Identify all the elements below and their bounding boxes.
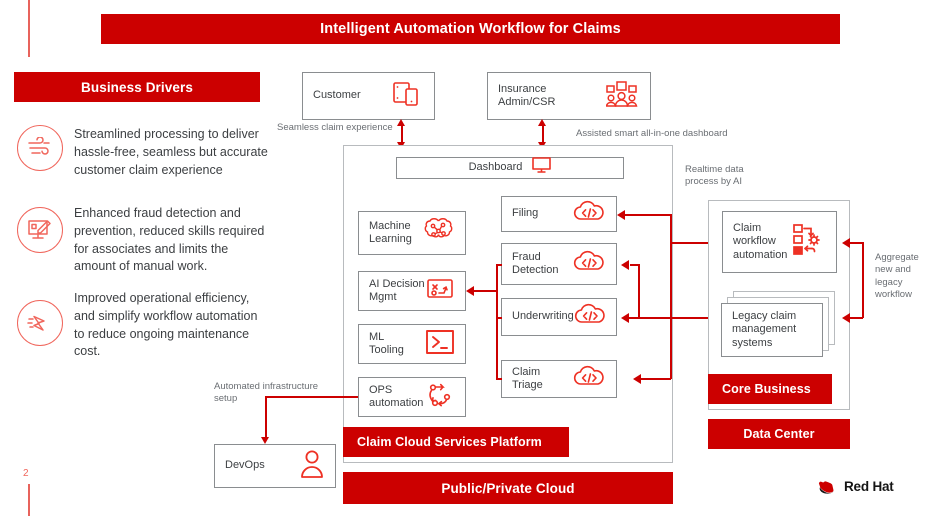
connector-triage-to-trunk xyxy=(496,378,502,380)
actor-box-insurance-admin[interactable]: Insurance Admin/CSR xyxy=(487,72,651,120)
actor-box-customer[interactable]: Customer xyxy=(302,72,435,120)
cloud-code-icon xyxy=(573,200,606,227)
connector-underwriting-to-trunk xyxy=(496,317,502,319)
core-box-claim-workflow-automation[interactable]: Claim workflow automation xyxy=(722,211,837,273)
connector-customer-platform xyxy=(401,124,403,144)
core-business-banner: Core Business xyxy=(708,374,832,404)
annotation-aggregate: Aggregate new and legacy workflow xyxy=(875,252,935,301)
connector-trunk-to-filing xyxy=(625,214,671,216)
actor-label-customer: Customer xyxy=(313,89,361,102)
platform-box-underwriting[interactable]: Underwriting xyxy=(501,298,617,336)
platform-label-claim-triage: Claim Triage xyxy=(512,366,573,393)
data-center-label: Data Center xyxy=(743,427,814,441)
connector-aggregate-top xyxy=(850,242,863,244)
connector-core-trunk-inner xyxy=(638,264,640,318)
platform-box-ml-tooling[interactable]: ML Tooling xyxy=(358,324,466,364)
core-label-legacy-claim-systems: Legacy claim management systems xyxy=(732,310,796,350)
connector-trunk-to-triage xyxy=(641,378,671,380)
data-center-banner: Data Center xyxy=(708,419,850,449)
platform-label-filing: Filing xyxy=(512,207,538,220)
driver-text-1: Streamlined processing to deliver hassle… xyxy=(74,126,299,179)
annotation-automated-infra: Automated infrastructure setup xyxy=(214,381,344,406)
business-drivers-label: Business Drivers xyxy=(81,80,193,95)
platform-label-underwriting: Underwriting xyxy=(512,310,574,323)
driver-text-3: Improved operational efficiency, and sim… xyxy=(74,290,304,361)
arrow-up-customer xyxy=(397,119,405,126)
connector-trunk-to-ai-decision xyxy=(474,290,497,292)
arrow-into-filing xyxy=(617,210,625,220)
platform-label-ai-decision-mgmt: AI Decision Mgmt xyxy=(369,278,425,305)
connector-admin-platform xyxy=(542,124,544,144)
connector-fraud-to-trunk xyxy=(496,264,502,266)
annotation-realtime: Realtime data process by AI xyxy=(685,164,795,189)
arrow-up-admin xyxy=(538,119,546,126)
platform-banner-label: Claim Cloud Services Platform xyxy=(357,435,542,449)
terminal-icon xyxy=(425,329,455,359)
public-private-cloud-label: Public/Private Cloud xyxy=(441,481,574,496)
arrow-into-claim-workflow-right xyxy=(842,238,850,248)
connector-ops-to-devops-v xyxy=(265,396,267,438)
arrow-into-legacy-systems xyxy=(842,313,850,323)
devops-box[interactable]: DevOps xyxy=(214,444,336,488)
platform-label-ml-tooling: ML Tooling xyxy=(369,331,404,358)
claim-cloud-services-platform-banner: Claim Cloud Services Platform xyxy=(343,427,569,457)
arrow-into-claim-triage xyxy=(633,374,641,384)
platform-box-fraud-detection[interactable]: Fraud Detection xyxy=(501,243,617,285)
platform-box-ai-decision-mgmt[interactable]: AI Decision Mgmt xyxy=(358,271,466,311)
arrow-into-devops xyxy=(261,437,269,444)
arrow-into-underwriting xyxy=(621,313,629,323)
monitor-icon xyxy=(532,157,551,178)
actor-label-insurance-admin: Insurance Admin/CSR xyxy=(498,83,606,110)
brain-icon xyxy=(422,216,455,250)
platform-label-machine-learning: Machine Learning xyxy=(369,220,412,247)
core-label-claim-workflow-automation: Claim workflow automation xyxy=(733,222,787,262)
platform-box-machine-learning[interactable]: Machine Learning xyxy=(358,211,466,255)
platform-label-fraud-detection: Fraud Detection xyxy=(512,251,558,278)
connector-core-trunk-outer xyxy=(670,214,672,379)
platform-box-filing[interactable]: Filing xyxy=(501,196,617,232)
devices-icon xyxy=(392,80,424,112)
connector-aggregate-trunk xyxy=(862,242,864,318)
driver-icon-3-speed-gauge-icon xyxy=(17,300,63,346)
platform-box-ops-automation[interactable]: OPS automation xyxy=(358,377,466,417)
core-box-legacy-claim-systems[interactable]: Legacy claim management systems xyxy=(721,303,823,357)
cloud-code-icon xyxy=(574,303,607,330)
driver-text-2: Enhanced fraud detection and prevention,… xyxy=(74,205,304,276)
platform-box-claim-triage[interactable]: Claim Triage xyxy=(501,360,617,398)
driver-icon-2-monitor-edit-icon xyxy=(17,207,63,253)
page-title: Intelligent Automation Workflow for Clai… xyxy=(320,21,621,37)
decision-flow-icon xyxy=(426,276,455,305)
red-hat-logo: Red Hat xyxy=(818,478,894,495)
cloud-code-icon xyxy=(573,365,606,392)
connector-trunk-to-fraud xyxy=(630,264,640,266)
public-private-cloud-banner: Public/Private Cloud xyxy=(343,472,673,504)
connector-underwriting-stub xyxy=(629,317,639,319)
user-icon xyxy=(299,449,325,483)
core-business-label: Core Business xyxy=(722,382,811,396)
slide-title-banner: Intelligent Automation Workflow for Clai… xyxy=(101,14,840,44)
cloud-code-icon xyxy=(573,250,606,277)
red-hat-fedora-icon xyxy=(818,478,840,495)
platform-label-ops-automation: OPS automation xyxy=(369,384,423,411)
cycle-arrows-icon xyxy=(424,381,455,413)
dashboard-label: Dashboard xyxy=(469,161,523,174)
connector-services-trunk-left xyxy=(496,264,498,379)
connector-underwriting-feed xyxy=(638,317,710,319)
connector-aggregate-bottom xyxy=(850,317,863,319)
red-hat-logo-text: Red Hat xyxy=(844,479,894,494)
annotation-seamless: Seamless claim experience xyxy=(277,122,402,134)
dashboard-box[interactable]: Dashboard xyxy=(396,157,624,179)
people-group-icon xyxy=(606,80,640,112)
devops-label: DevOps xyxy=(225,459,265,472)
arrow-into-fraud-detection xyxy=(621,260,629,270)
bottom-left-accent-line xyxy=(28,484,30,516)
top-left-accent-line xyxy=(28,0,30,57)
page-number: 2 xyxy=(23,468,29,479)
driver-icon-1-wind-flow-icon xyxy=(17,125,63,171)
workflow-gear-icon xyxy=(792,222,826,262)
arrow-into-ai-decision xyxy=(466,286,474,296)
connector-ops-to-devops-h xyxy=(265,396,358,398)
annotation-assisted: Assisted smart all-in-one dashboard xyxy=(576,128,766,140)
business-drivers-header: Business Drivers xyxy=(14,72,260,102)
